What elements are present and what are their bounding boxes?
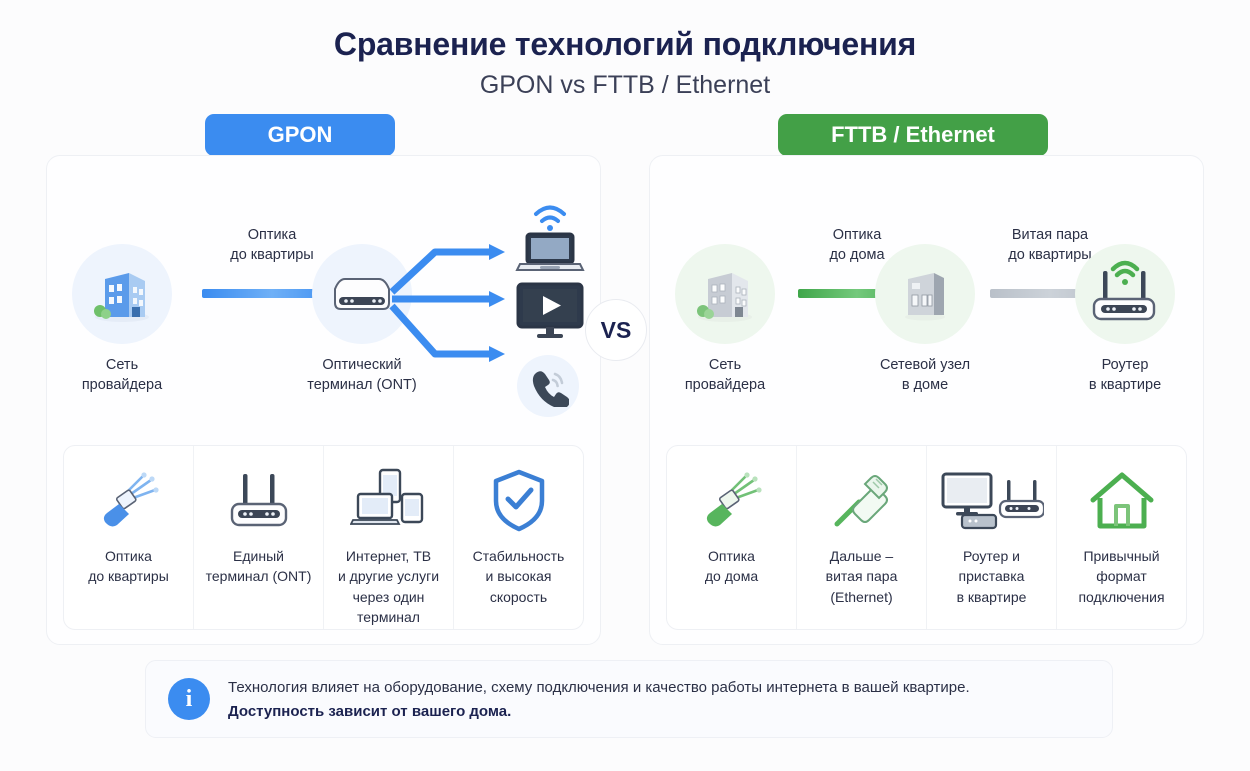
building-icon — [675, 244, 775, 344]
vs-divider: VS — [585, 299, 647, 361]
fiber-cable-icon — [97, 464, 161, 538]
router-icon — [222, 464, 296, 538]
gpon-card-ont-label: Единыйтерминал (ONT) — [206, 546, 312, 587]
devices-icon — [350, 464, 428, 538]
fttb-node-router: Роутерв квартире — [1055, 244, 1195, 395]
fttb-card-familiar-label: Привычныйформатподключения — [1078, 546, 1164, 607]
gpon-card-fiber-label: Оптикадо квартиры — [88, 546, 169, 587]
router-wifi-icon — [1075, 244, 1175, 344]
gpon-card-stability: Стабильностьи высокаяскорость — [454, 446, 583, 629]
tv-play-icon — [513, 280, 587, 342]
footer-note-line1: Технология влияет на оборудование, схему… — [228, 679, 970, 696]
rj45-connector-icon — [829, 464, 895, 538]
comparison-panels: Сетьпровайдера Оптикадо квартиры Оптичес… — [0, 155, 1250, 645]
gpon-node-provider: Сетьпровайдера — [52, 244, 192, 395]
fttb-card-fiber-label: Оптикадо дома — [705, 546, 758, 587]
fttb-card-ethernet-label: Дальше –витая пара(Ethernet) — [826, 546, 898, 607]
network-cabinet-icon — [875, 244, 975, 344]
fttb-node-cabinet-label: Сетевой узелв доме — [855, 356, 995, 395]
badge-fttb: FTTB / Ethernet — [778, 114, 1048, 156]
shield-check-icon — [489, 464, 549, 538]
gpon-endpoint-phone — [517, 355, 579, 417]
gpon-diagram: Сетьпровайдера Оптикадо квартиры Оптичес… — [47, 156, 600, 456]
page-subtitle: GPON vs FTTB / Ethernet — [0, 71, 1250, 100]
fttb-node-provider-label: Сетьпровайдера — [655, 356, 795, 395]
fiber-cable-icon — [700, 464, 764, 538]
tv-router-icon — [940, 464, 1044, 538]
phone-icon — [517, 355, 579, 417]
fttb-feature-cards: Оптикадо дома Дальше –витая пара(Etherne… — [666, 445, 1187, 630]
panel-fttb: Сетьпровайдера Оптикадо дома Сет — [649, 155, 1204, 645]
gpon-node-provider-label: Сетьпровайдера — [52, 356, 192, 395]
gpon-feature-cards: Оптикадо квартиры Единыйтерминал (ONT) — [63, 445, 584, 630]
home-icon — [1087, 464, 1157, 538]
gpon-card-services: Интернет, ТВи другие услугичерез одинтер… — [324, 446, 454, 629]
fttb-card-ethernet: Дальше –витая пара(Ethernet) — [797, 446, 927, 629]
footer-note-text: Технология влияет на оборудование, схему… — [228, 679, 970, 720]
fttb-card-familiar: Привычныйформатподключения — [1057, 446, 1186, 629]
gpon-card-ont: Единыйтерминал (ONT) — [194, 446, 324, 629]
gpon-card-fiber: Оптикадо квартиры — [64, 446, 194, 629]
footer-note-line2: Доступность зависит от вашего дома. — [228, 703, 970, 720]
footer-note: i Технология влияет на оборудование, схе… — [145, 660, 1113, 738]
fttb-diagram: Сетьпровайдера Оптикадо дома Сет — [650, 156, 1203, 456]
fttb-card-equipment: Роутер иприставкав квартире — [927, 446, 1057, 629]
page-header: Сравнение технологий подключения GPON vs… — [0, 0, 1250, 100]
fttb-card-fiber: Оптикадо дома — [667, 446, 797, 629]
info-icon: i — [168, 678, 210, 720]
building-icon — [72, 244, 172, 344]
gpon-endpoint-laptop — [510, 198, 590, 279]
page-title: Сравнение технологий подключения — [0, 26, 1250, 63]
fttb-node-provider: Сетьпровайдера — [655, 244, 795, 395]
fttb-node-router-label: Роутерв квартире — [1055, 356, 1195, 395]
gpon-card-services-label: Интернет, ТВи другие услугичерез одинтер… — [338, 546, 439, 627]
panel-gpon: Сетьпровайдера Оптикадо квартиры Оптичес… — [46, 155, 601, 645]
fttb-card-equipment-label: Роутер иприставкав квартире — [957, 546, 1027, 607]
badge-gpon: GPON — [205, 114, 395, 156]
gpon-endpoint-tv — [513, 280, 587, 347]
laptop-wifi-icon — [510, 198, 590, 274]
fttb-node-cabinet: Сетевой узелв доме — [855, 244, 995, 395]
gpon-card-stability-label: Стабильностьи высокаяскорость — [473, 546, 565, 607]
